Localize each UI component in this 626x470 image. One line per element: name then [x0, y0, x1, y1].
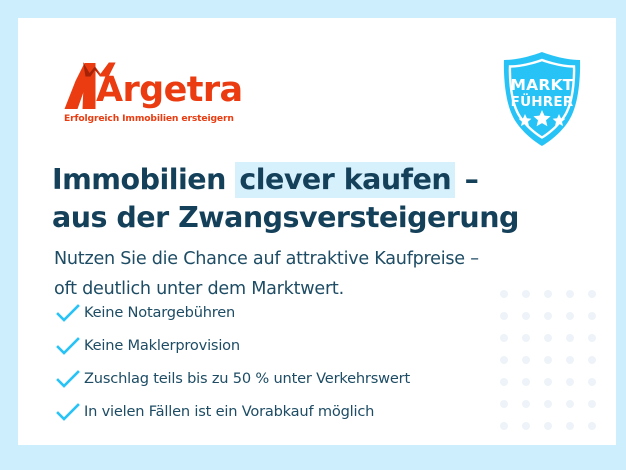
dot [588, 422, 596, 430]
logo-tagline: Erfolgreich Immobilien ersteigern [64, 113, 262, 124]
dot [566, 422, 574, 430]
dot [544, 422, 552, 430]
check-icon [54, 303, 84, 323]
list-item-label: Keine Notargebühren [84, 304, 235, 321]
logo-wordmark: Argetra [96, 73, 243, 108]
dot [566, 290, 574, 298]
list-item-label: In vielen Fällen ist ein Vorabkauf mögli… [84, 403, 374, 420]
check-icon [54, 336, 84, 356]
dot [588, 400, 596, 408]
dot [544, 312, 552, 320]
headline-line-2: aus der Zwangsversteigerung [52, 199, 522, 237]
dot-grid-decoration [500, 290, 610, 444]
headline-highlight: clever kaufen [235, 162, 455, 198]
dot [522, 422, 530, 430]
list-item: Keine Notargebühren [54, 296, 514, 329]
logo-row: Argetra [62, 58, 262, 110]
dot [566, 378, 574, 386]
dot [566, 334, 574, 342]
feature-list: Keine Notargebühren Keine Maklerprovisio… [54, 296, 514, 428]
markt-fuehrer-badge: MARKT FÜHRER [496, 50, 588, 150]
dot [566, 312, 574, 320]
dot [566, 356, 574, 364]
check-icon [54, 369, 84, 389]
dot [588, 378, 596, 386]
dot [522, 356, 530, 364]
dot [566, 400, 574, 408]
badge-line2: FÜHRER [511, 92, 574, 110]
banner-card: Argetra Erfolgreich Immobilien ersteiger… [18, 18, 616, 445]
dot [588, 312, 596, 320]
list-item-label: Keine Maklerprovision [84, 337, 240, 354]
list-item: Zuschlag teils bis zu 50 % unter Verkehr… [54, 362, 514, 395]
badge-line1: MARKT [511, 76, 574, 94]
headline-line-1: Immobilien clever kaufen – [52, 161, 522, 199]
list-item: Keine Maklerprovision [54, 329, 514, 362]
headline-prefix: Immobilien [52, 163, 235, 196]
dot [588, 290, 596, 298]
dot [588, 334, 596, 342]
check-icon [54, 402, 84, 422]
page-title: Immobilien clever kaufen – aus der Zwang… [52, 161, 522, 237]
dot [588, 356, 596, 364]
page-subtitle: Nutzen Sie die Chance auf attraktive Kau… [54, 244, 534, 304]
subtitle-line-1: Nutzen Sie die Chance auf attraktive Kau… [54, 244, 534, 274]
dot [544, 334, 552, 342]
headline-suffix: – [455, 163, 478, 196]
dot [544, 356, 552, 364]
dot [522, 334, 530, 342]
dot [522, 400, 530, 408]
banner-frame: Argetra Erfolgreich Immobilien ersteiger… [0, 0, 626, 470]
dot [544, 400, 552, 408]
argetra-logo[interactable]: Argetra Erfolgreich Immobilien ersteiger… [62, 58, 262, 124]
dot [522, 312, 530, 320]
list-item: In vielen Fällen ist ein Vorabkauf mögli… [54, 395, 514, 428]
list-item-label: Zuschlag teils bis zu 50 % unter Verkehr… [84, 370, 410, 387]
dot [544, 290, 552, 298]
dot [544, 378, 552, 386]
dot [522, 378, 530, 386]
